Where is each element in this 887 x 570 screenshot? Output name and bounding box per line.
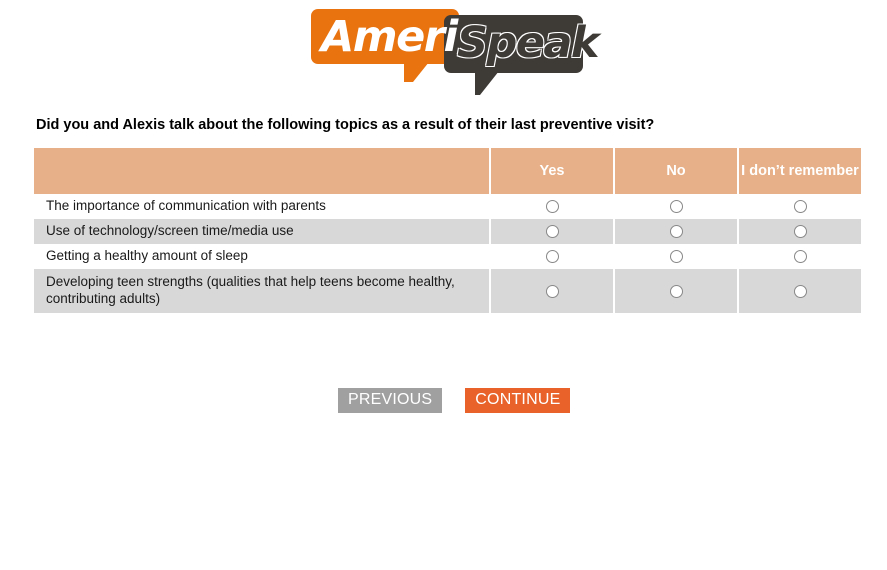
amerispeak-logo: Ameri Speak [311,9,583,91]
radio-button-row3-no[interactable] [670,250,683,263]
radio-cell-row3-no[interactable] [615,244,737,269]
radio-button-row1-i-dont-remember[interactable] [794,200,807,213]
radio-button-row2-i-dont-remember[interactable] [794,225,807,238]
radio-cell-row2-no[interactable] [615,219,737,244]
logo-text-ameri: Ameri [321,16,457,59]
radio-button-row2-no[interactable] [670,225,683,238]
radio-cell-row4-no[interactable] [615,269,737,313]
table-row: The importance of communication with par… [34,194,862,219]
logo-area: Ameri Speak [0,0,887,96]
radio-button-row1-no[interactable] [670,200,683,213]
grid-header-yes: Yes [491,148,613,194]
radio-cell-row1-yes[interactable] [491,194,613,219]
radio-cell-row4-yes[interactable] [491,269,613,313]
radio-button-row4-yes[interactable] [546,285,559,298]
continue-button[interactable]: CONTINUE [465,388,570,413]
radio-button-row4-no[interactable] [670,285,683,298]
grid-header-no: No [615,148,737,194]
row-label-4: Developing teen strengths (qualities tha… [34,269,489,313]
row-label-1: The importance of communication with par… [34,194,489,219]
previous-button[interactable]: PREVIOUS [338,388,442,413]
navigation-buttons: PREVIOUS CONTINUE [338,388,570,413]
logo-bubble-dark-tail-icon [475,71,499,95]
radio-button-row3-i-dont-remember[interactable] [794,250,807,263]
radio-cell-row3-i-dont-remember[interactable] [739,244,861,269]
grid-header-corner [34,148,489,194]
logo-text-speak: Speak [457,22,598,65]
grid-body: The importance of communication with par… [34,194,862,313]
radio-button-row4-i-dont-remember[interactable] [794,285,807,298]
table-row: Developing teen strengths (qualities tha… [34,269,862,313]
radio-cell-row2-yes[interactable] [491,219,613,244]
radio-cell-row3-yes[interactable] [491,244,613,269]
radio-button-row3-yes[interactable] [546,250,559,263]
radio-button-row1-yes[interactable] [546,200,559,213]
radio-cell-row1-no[interactable] [615,194,737,219]
response-grid: Yes No I don’t remember The importance o… [34,148,862,313]
radio-cell-row1-i-dont-remember[interactable] [739,194,861,219]
grid-header-i-dont-remember: I don’t remember [739,148,861,194]
logo-bubble-orange-tail-icon [404,62,429,82]
table-row: Use of technology/screen time/media use [34,219,862,244]
row-label-3: Getting a healthy amount of sleep [34,244,489,269]
radio-button-row2-yes[interactable] [546,225,559,238]
row-label-2: Use of technology/screen time/media use [34,219,489,244]
grid-header-row: Yes No I don’t remember [34,148,862,194]
question-text: Did you and Alexis talk about the follow… [36,117,654,133]
table-row: Getting a healthy amount of sleep [34,244,862,269]
radio-cell-row2-i-dont-remember[interactable] [739,219,861,244]
radio-cell-row4-i-dont-remember[interactable] [739,269,861,313]
